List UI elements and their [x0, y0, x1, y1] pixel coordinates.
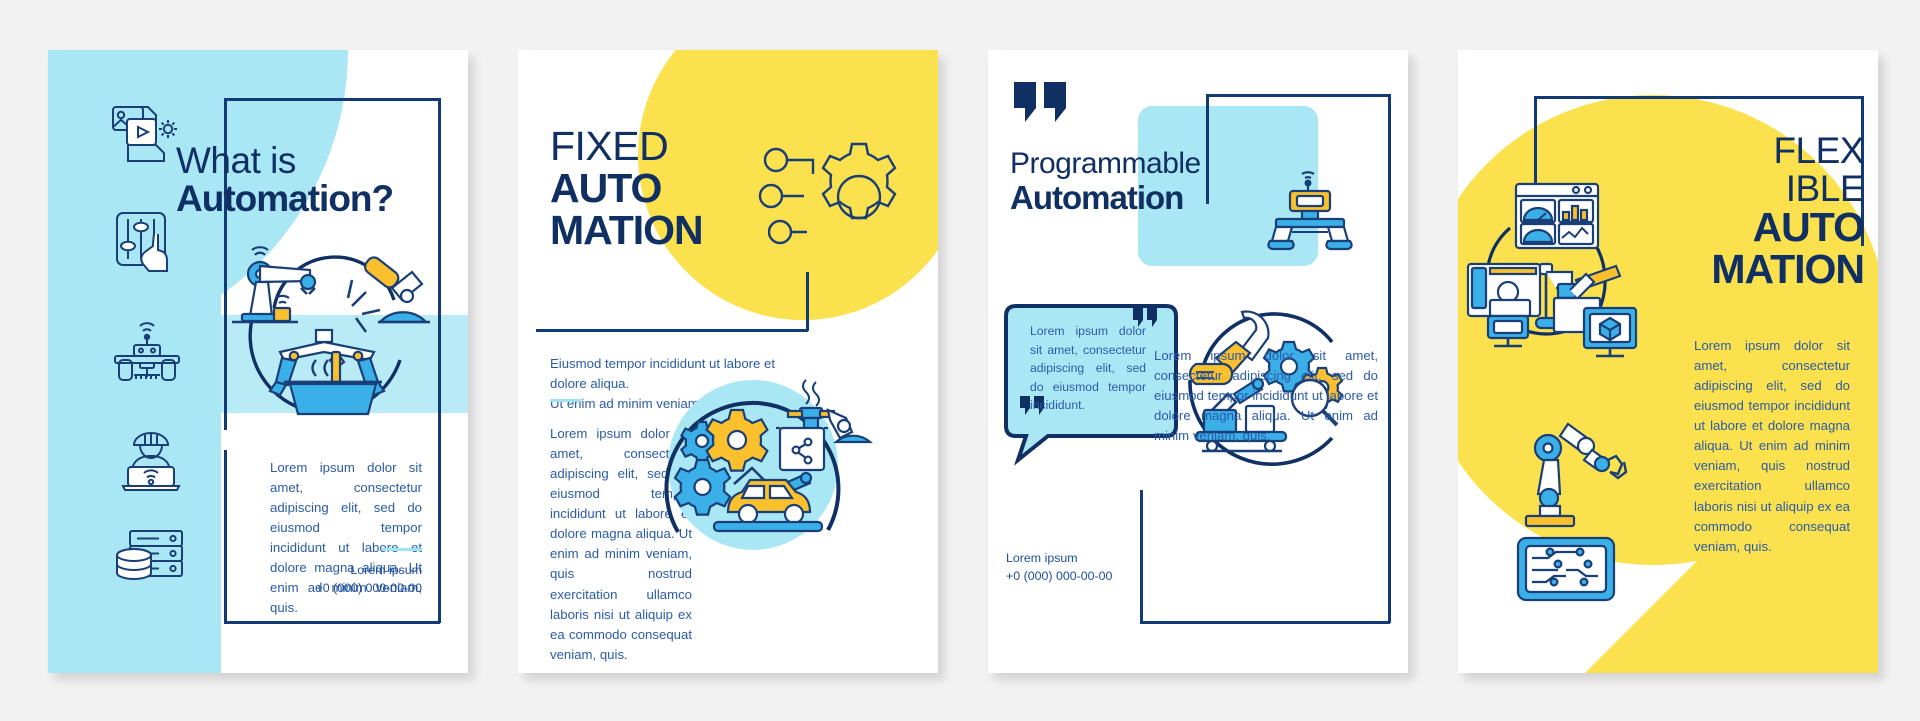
- page-4-title-line-1: FLEX: [1711, 132, 1864, 170]
- page-3-programmable-automation[interactable]: Programmable Automation: [988, 50, 1408, 673]
- server-database-icon: [114, 525, 188, 587]
- page-4-body-text: Lorem ipsum dolor sit amet, consectetur …: [1694, 336, 1850, 557]
- quotation-mark-icon: [1014, 82, 1074, 134]
- machine-robot-icon: [1270, 172, 1368, 256]
- page-3-frame-top: [1206, 94, 1390, 97]
- page-1-title: What is Automation?: [176, 142, 446, 218]
- page-1-frame-bottom: [224, 621, 440, 624]
- page-1-contact: Lorem ipsum +0 (000) 000-00-00: [268, 562, 422, 598]
- page-4-flexible-automation[interactable]: FLEX IBLE AUTO MATION: [1458, 50, 1878, 673]
- page-4-title-line-3: AUTO: [1711, 207, 1864, 249]
- brochure-layout-canvas: What is Automation?: [0, 0, 1920, 721]
- page-3-title-line-2: Automation: [1010, 180, 1201, 216]
- page-4-title-line-2: IBLE: [1711, 170, 1864, 208]
- robot-arm-circuit-screen-illustration: [1514, 402, 1664, 602]
- page-1-title-line-2: Automation?: [176, 179, 446, 218]
- page-3-quote-text: Lorem ipsum dolor sit amet, consectetur …: [1030, 322, 1146, 415]
- page-4-title: FLEX IBLE AUTO MATION: [1711, 132, 1864, 291]
- page-3-frame-left-upper: [1206, 94, 1209, 204]
- page-3-frame-right: [1388, 94, 1391, 623]
- slider-touch-icon: [114, 210, 184, 272]
- page-4-frame-top: [1534, 96, 1864, 99]
- page-3-body-text: Lorem ipsum dolor sit amet, consectetur …: [1154, 346, 1378, 446]
- page-3-contact: Lorem ipsum +0 (000) 000-00-00: [1006, 550, 1156, 586]
- page-3-contact-phone: +0 (000) 000-00-00: [1006, 568, 1156, 586]
- page-3-contact-name: Lorem ipsum: [1006, 550, 1156, 568]
- page-2-accent-rule: [550, 399, 582, 402]
- page-2-title-line-1: FIXED: [550, 126, 703, 168]
- network-gear-icon: [761, 138, 921, 256]
- page-3-title: Programmable Automation: [1010, 148, 1201, 215]
- page-1-frame-left-lower: [224, 450, 227, 623]
- robot-arms-cooking-circle-illustration: [232, 230, 432, 430]
- autonomous-rover-icon: [110, 320, 186, 382]
- page-1-contact-name: Lorem ipsum: [268, 562, 422, 580]
- page-3-title-line-1: Programmable: [1010, 148, 1201, 180]
- dashboard-monitors-3dprinter-illustration: [1466, 180, 1676, 370]
- page-2-frame-bottom: [536, 329, 808, 332]
- page-2-title: FIXED AUTO MATION: [550, 126, 703, 251]
- gears-car-assembly-circle-illustration: [656, 362, 856, 572]
- page-1-contact-phone: +0 (000) 000-00-00: [268, 580, 422, 598]
- page-3-frame-bottom: [1140, 621, 1390, 624]
- page-1-what-is-automation[interactable]: What is Automation?: [48, 50, 468, 673]
- page-2-fixed-automation[interactable]: FIXED AUTO MATION Eiusmod tem: [518, 50, 938, 673]
- media-gear-icon: [110, 103, 182, 165]
- page-1-accent-rule: [382, 548, 422, 551]
- page-2-title-line-2: AUTO: [550, 168, 703, 210]
- page-1-title-line-1: What is: [176, 142, 446, 179]
- page-1-frame-top: [224, 98, 440, 101]
- engineer-laptop-icon: [118, 428, 184, 492]
- page-4-title-line-4: MATION: [1711, 249, 1864, 291]
- page-2-frame-right: [806, 272, 809, 331]
- page-2-title-line-3: MATION: [550, 210, 703, 252]
